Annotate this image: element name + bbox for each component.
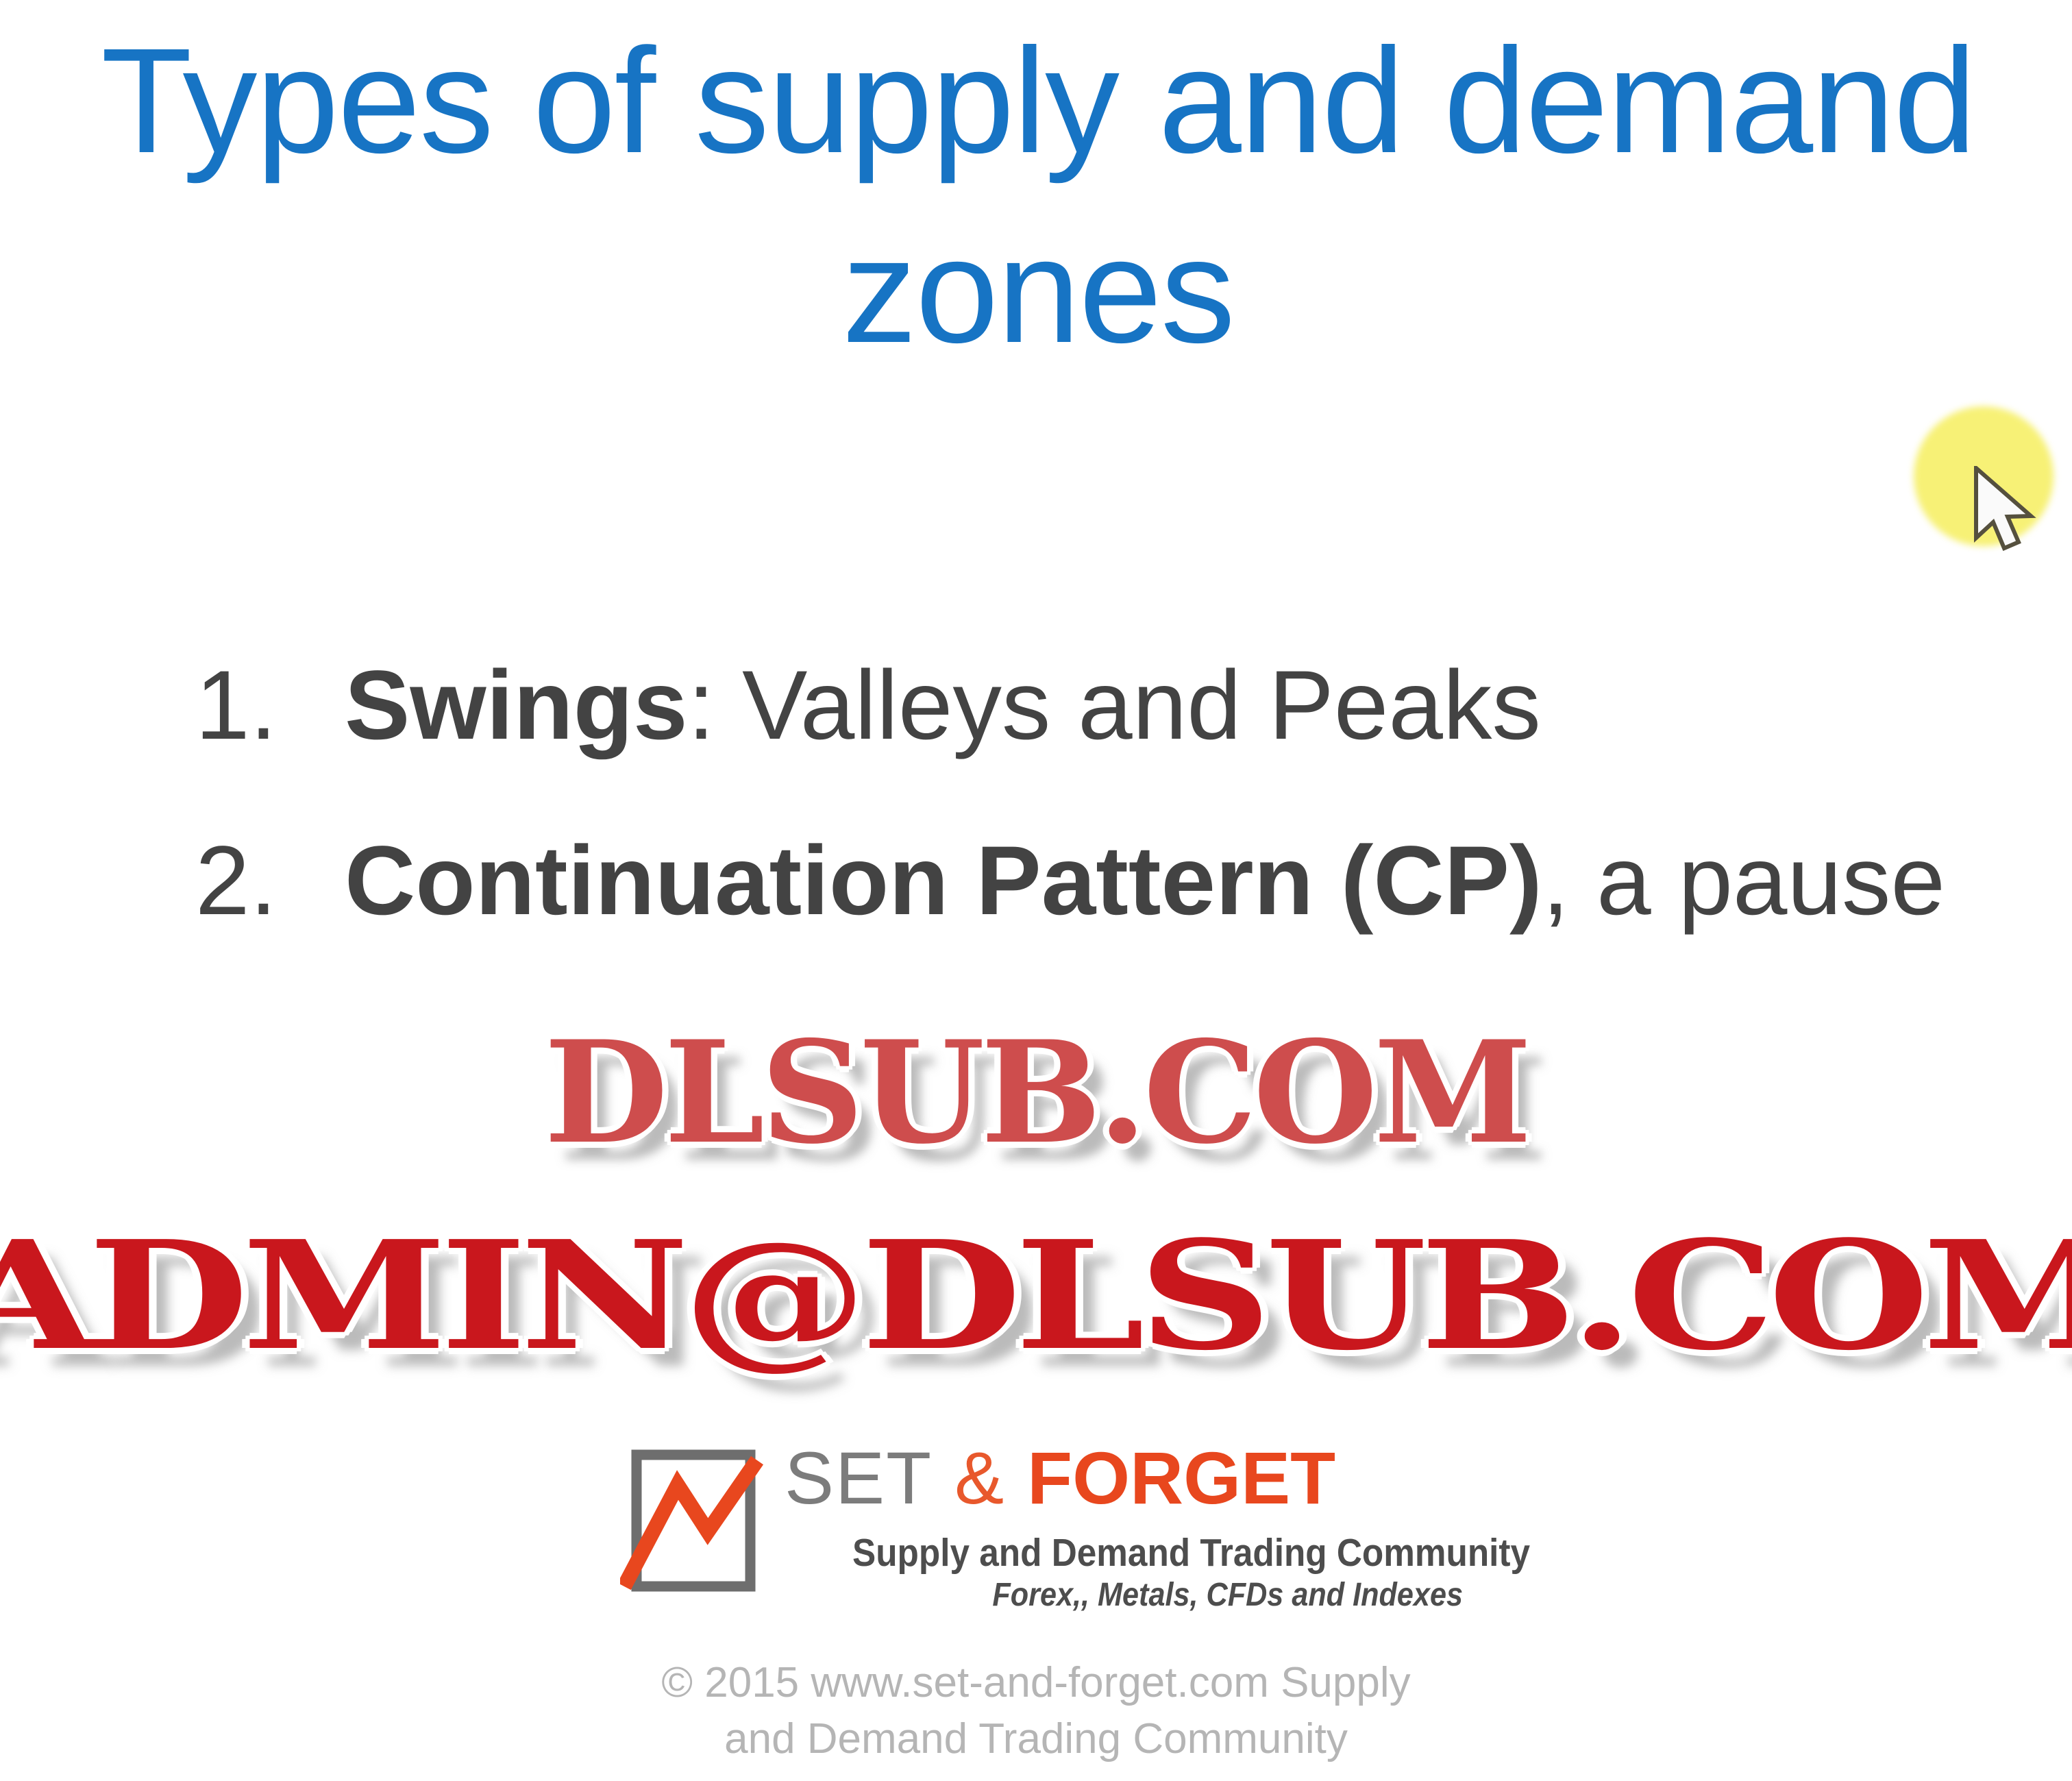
list-item-rest-text: , a pause bbox=[1542, 826, 1945, 935]
list-item: 2. Continuation Pattern (CP), a pause bbox=[195, 826, 2011, 936]
watermark-site-email: ADMIN@DLSUB.COM bbox=[0, 1221, 2072, 1371]
logo-tagline-primary: Supply and Demand Trading Community bbox=[852, 1530, 1463, 1575]
list-item: 1. Swings: Valleys and Peaks bbox=[195, 651, 2011, 761]
presentation-slide: Types of supply and demand zones 1. Swin… bbox=[0, 0, 2072, 1781]
page-title-line-1: Types of supply and demand bbox=[82, 7, 1994, 197]
brand-logo: SET & FORGET Supply and Demand Trading C… bbox=[620, 1449, 1463, 1621]
logo-tagline-secondary: Forex,, Metals, CFDs and Indexes bbox=[852, 1576, 1463, 1614]
logo-wordmark: SET & FORGET bbox=[785, 1441, 1335, 1515]
list-item-number: 2. bbox=[195, 826, 345, 936]
list-item-number: 1. bbox=[195, 651, 345, 761]
page-title: Types of supply and demand zones bbox=[82, 7, 1994, 386]
footer-line-1: © 2015 www.set-and-forget.com Supply bbox=[0, 1655, 2072, 1711]
numbered-list: 1. Swings: Valleys and Peaks 2. Continua… bbox=[195, 651, 2011, 1002]
mouse-arrow-cursor bbox=[1973, 466, 2049, 555]
list-item-text: Swings: Valleys and Peaks bbox=[345, 651, 1541, 761]
list-item-bold-text: Continuation Pattern (CP) bbox=[345, 826, 1542, 935]
logo-word-forget: FORGET bbox=[1027, 1436, 1335, 1519]
page-title-line-2: zones bbox=[82, 197, 1994, 386]
footer-line-2: and Demand Trading Community bbox=[0, 1711, 2072, 1767]
watermark-site-url: DLSUB.COM bbox=[0, 1023, 2072, 1164]
list-item-bold-text: Swings bbox=[345, 651, 688, 760]
list-item-rest-text: : Valleys and Peaks bbox=[688, 651, 1541, 760]
logo-word-set: SET bbox=[785, 1436, 933, 1519]
footer-copyright: © 2015 www.set-and-forget.com Supply and… bbox=[0, 1655, 2072, 1767]
logo-word-ampersand: & bbox=[954, 1436, 1005, 1519]
chart-line-square-icon bbox=[620, 1449, 765, 1597]
list-item-text: Continuation Pattern (CP), a pause bbox=[345, 826, 1945, 936]
